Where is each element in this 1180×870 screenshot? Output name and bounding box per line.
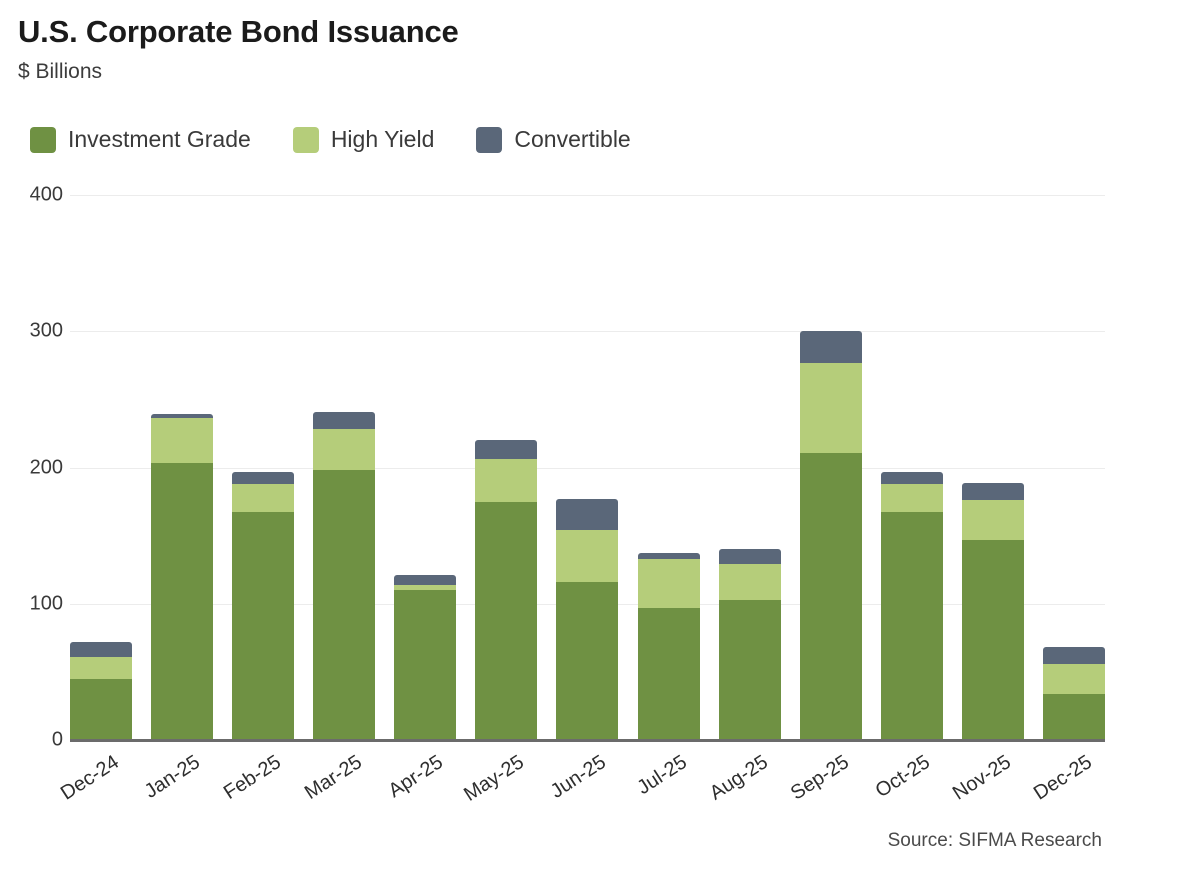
bar-segment-investment-grade[interactable]: [151, 463, 213, 740]
y-tick-label-0: 0: [3, 729, 63, 752]
page-title: U.S. Corporate Bond Issuance: [18, 14, 459, 50]
legend-label-convertible: Convertible: [514, 126, 630, 153]
bar-segment-high-yield[interactable]: [556, 530, 618, 582]
plot-area: 0100200300400: [70, 195, 1105, 740]
x-tick-label-jan-25: Jan-25: [128, 751, 204, 812]
bar-segment-high-yield[interactable]: [232, 484, 294, 513]
bar-group-oct-25[interactable]: [881, 195, 943, 740]
x-tick-label-nov-25: Nov-25: [939, 751, 1015, 812]
x-tick-label-sep-25: Sep-25: [777, 751, 853, 812]
bar-group-may-25[interactable]: [475, 195, 537, 740]
bar-group-feb-25[interactable]: [232, 195, 294, 740]
bar-segment-convertible[interactable]: [313, 412, 375, 430]
bar-segment-investment-grade[interactable]: [1043, 694, 1105, 740]
y-tick-label-100: 100: [3, 592, 63, 615]
legend-item-convertible[interactable]: Convertible: [476, 126, 630, 153]
bar-segment-investment-grade[interactable]: [962, 540, 1024, 740]
legend-label-investment-grade: Investment Grade: [68, 126, 251, 153]
bar-group-jun-25[interactable]: [556, 195, 618, 740]
bar-segment-high-yield[interactable]: [962, 500, 1024, 540]
x-tick-label-mar-25: Mar-25: [291, 751, 367, 812]
bar-segment-investment-grade[interactable]: [556, 582, 618, 740]
bar-segment-investment-grade[interactable]: [394, 590, 456, 740]
legend-swatch-high-yield: [293, 127, 319, 153]
bar-group-nov-25[interactable]: [962, 195, 1024, 740]
y-tick-label-400: 400: [3, 184, 63, 207]
bar-segment-high-yield[interactable]: [1043, 664, 1105, 694]
bar-segment-high-yield[interactable]: [70, 657, 132, 679]
x-tick-label-oct-25: Oct-25: [858, 751, 934, 812]
bar-segment-convertible[interactable]: [232, 472, 294, 484]
bar-group-apr-25[interactable]: [394, 195, 456, 740]
bar-segment-investment-grade[interactable]: [719, 600, 781, 740]
bar-segment-convertible[interactable]: [70, 642, 132, 657]
x-tick-label-apr-25: Apr-25: [372, 751, 448, 812]
x-axis-labels: Dec-24Jan-25Feb-25Mar-25Apr-25May-25Jun-…: [70, 745, 1105, 835]
x-tick-label-jul-25: Jul-25: [615, 751, 691, 812]
bar-segment-convertible[interactable]: [1043, 647, 1105, 663]
x-tick-label-dec-24: Dec-24: [47, 751, 123, 812]
bar-series-container: [70, 195, 1105, 740]
bar-group-dec-24[interactable]: [70, 195, 132, 740]
x-axis-line: [70, 739, 1105, 742]
legend-item-investment-grade[interactable]: Investment Grade: [30, 126, 251, 153]
bar-group-aug-25[interactable]: [719, 195, 781, 740]
bar-segment-investment-grade[interactable]: [475, 502, 537, 740]
bar-segment-investment-grade[interactable]: [800, 453, 862, 740]
bar-segment-high-yield[interactable]: [313, 429, 375, 470]
bar-segment-investment-grade[interactable]: [232, 512, 294, 740]
bar-group-sep-25[interactable]: [800, 195, 862, 740]
bar-group-dec-25[interactable]: [1043, 195, 1105, 740]
bar-group-jan-25[interactable]: [151, 195, 213, 740]
x-tick-label-may-25: May-25: [453, 751, 529, 812]
legend-swatch-convertible: [476, 127, 502, 153]
bar-segment-investment-grade[interactable]: [638, 608, 700, 740]
x-tick-label-feb-25: Feb-25: [209, 751, 285, 812]
bar-segment-high-yield[interactable]: [800, 363, 862, 453]
bar-segment-high-yield[interactable]: [151, 418, 213, 463]
chart-subtitle: $ Billions: [18, 60, 102, 84]
source-note: Source: SIFMA Research: [888, 830, 1102, 852]
bar-segment-convertible[interactable]: [881, 472, 943, 484]
legend-swatch-investment-grade: [30, 127, 56, 153]
bar-group-mar-25[interactable]: [313, 195, 375, 740]
bar-segment-high-yield[interactable]: [719, 564, 781, 599]
bar-segment-convertible[interactable]: [556, 499, 618, 530]
bar-segment-convertible[interactable]: [475, 440, 537, 459]
y-tick-label-300: 300: [3, 320, 63, 343]
legend-label-high-yield: High Yield: [331, 126, 435, 153]
bar-segment-convertible[interactable]: [394, 575, 456, 585]
x-tick-label-aug-25: Aug-25: [696, 751, 772, 812]
bar-group-jul-25[interactable]: [638, 195, 700, 740]
y-tick-label-200: 200: [3, 456, 63, 479]
bar-segment-convertible[interactable]: [800, 331, 862, 362]
bar-segment-high-yield[interactable]: [638, 559, 700, 608]
x-tick-label-dec-25: Dec-25: [1020, 751, 1096, 812]
chart-legend: Investment Grade High Yield Convertible: [30, 126, 673, 153]
bar-segment-investment-grade[interactable]: [881, 512, 943, 740]
bar-segment-convertible[interactable]: [719, 549, 781, 564]
bar-segment-high-yield[interactable]: [475, 459, 537, 501]
bar-segment-convertible[interactable]: [962, 483, 1024, 501]
bar-segment-investment-grade[interactable]: [313, 470, 375, 740]
chart-page: U.S. Corporate Bond Issuance $ Billions …: [0, 0, 1180, 870]
x-tick-label-jun-25: Jun-25: [534, 751, 610, 812]
bar-segment-high-yield[interactable]: [881, 484, 943, 513]
bar-segment-investment-grade[interactable]: [70, 679, 132, 740]
legend-item-high-yield[interactable]: High Yield: [293, 126, 435, 153]
